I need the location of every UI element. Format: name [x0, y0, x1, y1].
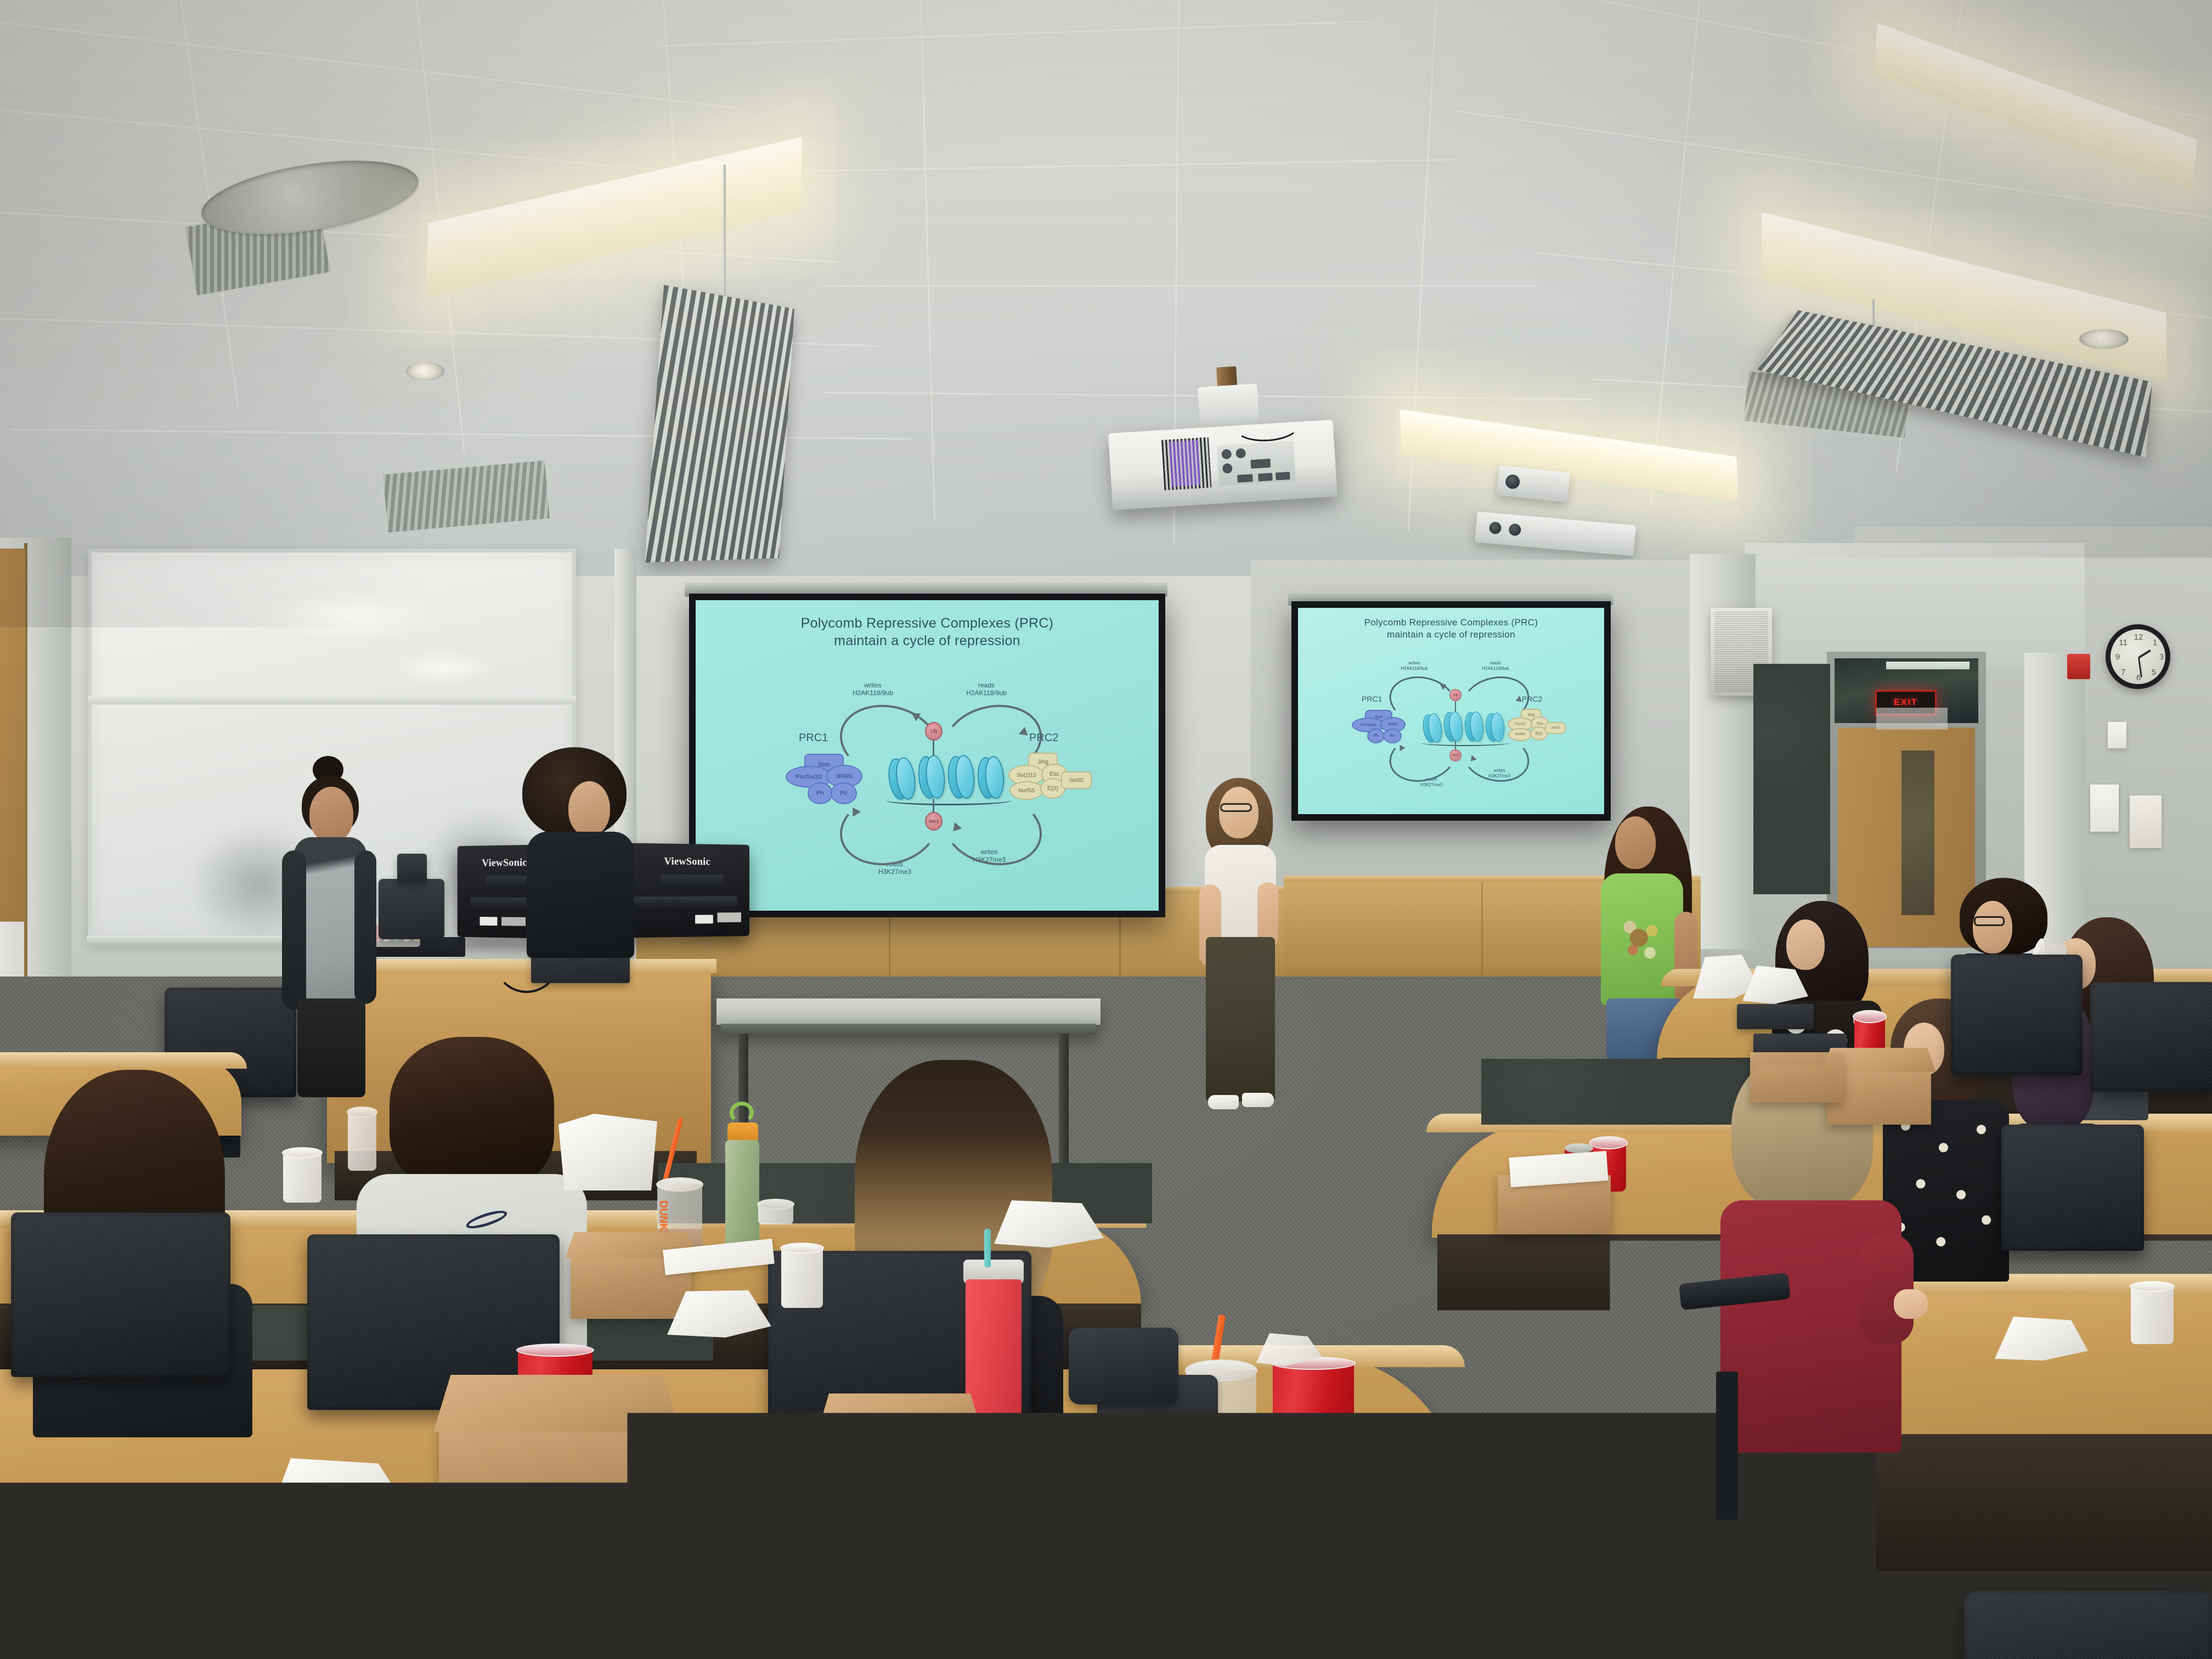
bottle-carry-loop	[730, 1102, 754, 1124]
subunit-ph: Ph	[808, 782, 833, 804]
hand	[1894, 1289, 1928, 1319]
wall-tack-panel	[1753, 664, 1830, 894]
takeout-box-lid	[433, 1375, 680, 1432]
upper-left-desk-edge	[0, 1052, 247, 1069]
slide-diagram: writes H2AK118/9ub reads H2AK118/9ub rea…	[1298, 608, 1604, 814]
door-transom-light	[1886, 662, 1970, 669]
chair-mesh-back	[1954, 958, 2079, 1072]
wall-poster	[2130, 795, 2162, 848]
head	[568, 781, 610, 836]
tee-graphic	[1615, 899, 1668, 970]
pants	[297, 998, 365, 1097]
left-wall-wood-panel	[0, 549, 25, 922]
phone-camera-lens	[1262, 1488, 1283, 1509]
clock-hour-hand	[2138, 650, 2151, 659]
histone-mark-ub: Ub	[925, 722, 943, 741]
arm-left	[282, 850, 306, 1009]
arrow-label-reads-ub: reads H2AK118/9ub	[943, 681, 1030, 697]
sneaker-left	[1208, 1095, 1239, 1109]
classroom-photo: Polycomb Repressive Complexes (PRC) main…	[0, 0, 2212, 1659]
front-grey-table	[716, 998, 1101, 1025]
histone-mark-ub: Ub	[1449, 689, 1462, 701]
arrow-mark: H2AK118/9ub	[1463, 666, 1528, 672]
paper-cup	[758, 1203, 793, 1224]
ceiling	[0, 0, 2212, 609]
red-solo-cup	[1273, 1362, 1354, 1470]
arrow-verb: writes	[1409, 661, 1420, 665]
complex-label-prc2: PRC2	[1522, 695, 1542, 703]
tablet	[1737, 1004, 1814, 1029]
monitor-port-bar	[617, 896, 737, 909]
recessed-downlight	[2079, 329, 2129, 349]
wall-clock: 12 1 3 5 6 7 9 11	[2106, 624, 2170, 689]
monitor-brand-label: ViewSonic	[482, 857, 527, 870]
arrow-mark: H2AK118/9ub	[943, 689, 1030, 697]
paper-bag	[558, 1114, 657, 1190]
chair	[2001, 1125, 2144, 1251]
exit-sign-text: EXIT	[1894, 698, 1918, 708]
subunit-jarid2: Jarid2	[1061, 771, 1092, 789]
subunit-pc: Pc	[1383, 729, 1402, 743]
corridor-window	[1876, 708, 1948, 730]
projection-screen-right: Polycomb Repressive Complexes (PRC) main…	[1291, 601, 1611, 821]
head	[1973, 901, 2012, 953]
subunit-ph: Ph	[1367, 729, 1385, 743]
hair	[390, 1037, 554, 1190]
phone	[1630, 1203, 1704, 1232]
conference-microphone	[752, 1430, 822, 1480]
straw	[984, 1229, 991, 1267]
whiteboard-panel-divider	[88, 696, 576, 704]
projector-vent-glow	[1169, 440, 1200, 487]
chair-mesh-back	[2005, 1128, 2141, 1248]
baffle-louvers	[645, 285, 794, 562]
monitor-brand-label: ViewSonic	[664, 856, 710, 868]
projection-screen-left: Polycomb Repressive Complexes (PRC) main…	[689, 594, 1165, 917]
paper-cup	[283, 1151, 321, 1203]
soffit-beam	[1745, 543, 2085, 669]
chair-base	[1716, 1372, 1738, 1520]
chair	[1951, 955, 2083, 1075]
slide-left: Polycomb Repressive Complexes (PRC) main…	[696, 600, 1159, 911]
subunit-jarid2: Jarid2	[1545, 722, 1566, 734]
complex-label-prc1: PRC1	[799, 732, 828, 744]
sneaker-right	[1242, 1093, 1274, 1107]
chair-mesh-back	[2093, 985, 2212, 1088]
monitor-sticker	[501, 917, 526, 926]
wall-sign	[2108, 722, 2126, 748]
arrow-label-writes-ub: writes H2AK118/9ub	[1381, 661, 1447, 671]
paper-cup	[781, 1246, 823, 1308]
monitor-sticker	[717, 912, 741, 922]
chair	[11, 1212, 230, 1377]
torso-black-tee	[527, 832, 634, 958]
slide-right: Polycomb Repressive Complexes (PRC) main…	[1298, 608, 1604, 814]
chair-mesh-back	[14, 1216, 227, 1374]
chair-mesh-back	[1967, 1594, 2209, 1659]
phone-camera-lens	[663, 1465, 677, 1480]
recessed-downlight	[406, 362, 444, 381]
chair	[1964, 1591, 2212, 1659]
chair	[2090, 982, 2212, 1092]
takeout-box	[823, 1426, 977, 1520]
arrow-mark: H3K27me3	[1401, 782, 1462, 788]
slide-diagram: writes H2AK118/9ub reads H2AK118/9ub rea…	[696, 600, 1159, 911]
takeout-box	[439, 1424, 675, 1550]
monitor-sticker	[479, 917, 497, 926]
mic-status-led	[786, 1438, 795, 1447]
subunit-nurf55: Nurf55	[1009, 781, 1043, 800]
head	[309, 787, 353, 843]
suspended-acoustic-baffle	[645, 285, 794, 562]
complex-label-prc2: PRC2	[1029, 732, 1058, 744]
arrow-mark: H2AK118/9ub	[832, 689, 914, 697]
arrow-label-reads-ub: reads H2AK118/9ub	[1463, 661, 1528, 671]
water-bottle-clear	[348, 1110, 376, 1171]
phone-camera-lens	[664, 1483, 678, 1497]
cargo-pants	[1206, 937, 1275, 1102]
head	[1786, 919, 1825, 970]
paper-cup	[2131, 1285, 2174, 1344]
chair-mesh-back	[936, 1562, 1555, 1659]
backpack	[1069, 1328, 1178, 1404]
arm-right	[354, 850, 376, 1004]
arrow-label-writes-ub: writes H2AK118/9ub	[832, 681, 914, 697]
glasses	[1974, 916, 2005, 926]
phone-grip-band	[1298, 1487, 1380, 1504]
subunit-pc: Pc	[831, 782, 857, 804]
chair	[933, 1559, 1558, 1659]
arrow-verb: writes	[864, 681, 881, 689]
complex-label-prc1: PRC1	[1362, 695, 1382, 703]
head	[1615, 816, 1656, 869]
takeout-box	[1750, 1052, 1843, 1103]
head	[1219, 787, 1259, 838]
subunit-nurf55: Nurf55	[1508, 728, 1532, 741]
table-leg	[1059, 1034, 1069, 1171]
arrow-mark: H2AK118/9ub	[1381, 666, 1447, 672]
corner-window	[1901, 751, 1934, 915]
document-camera	[379, 879, 444, 939]
fire-alarm-strobe	[2067, 654, 2090, 679]
document-camera-arm	[397, 854, 427, 883]
arrow-verb: reads	[978, 681, 995, 689]
desk-modesty-panel	[1876, 1434, 2212, 1571]
histone-mark-me3: Me3	[925, 812, 943, 831]
arrow-mark: H3K27me3	[859, 868, 930, 876]
baffle-support-rod	[723, 165, 726, 302]
monitor-vesa-plate	[661, 874, 724, 889]
takeout-box-lid	[817, 1393, 982, 1433]
arrow-verb: reads	[1490, 661, 1501, 665]
histone-mark-me3: Me3	[1449, 749, 1462, 761]
projector-port-panel	[1217, 441, 1296, 486]
chair-base	[1695, 1509, 1783, 1542]
wall-poster	[2090, 785, 2119, 832]
projector-body	[1108, 420, 1338, 510]
front-grey-table-apron	[721, 1024, 1096, 1035]
glasses	[1220, 803, 1252, 812]
monitor-sticker	[695, 915, 713, 923]
bottle-cap	[727, 1122, 758, 1141]
